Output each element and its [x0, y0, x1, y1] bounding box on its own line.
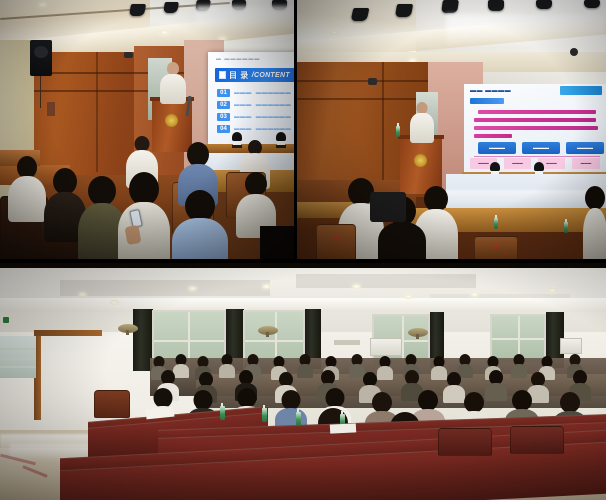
- photo-collage: ▬ ▬▬▬▬▬▬ 目 录 /CONTENT 01 ▬▬▬ ▬▬▬▬▬▬ 02 ▬…: [0, 0, 606, 500]
- panel-bottom: [0, 262, 606, 500]
- panel-top-right: ▬▬ ▬▬▬▬ ▬▬▬▬ ▬▬▬▬ ▬▬▬▬ ▬▬▬ ▬▬▬ ▬▬▬ ▬▬▬: [296, 0, 606, 262]
- panel-top-left: ▬ ▬▬▬▬▬▬ 目 录 /CONTENT 01 ▬▬▬ ▬▬▬▬▬▬ 02 ▬…: [0, 0, 296, 262]
- vignette: [0, 262, 606, 500]
- vignette: [296, 0, 606, 262]
- panel-divider-horizontal: [0, 259, 606, 263]
- panel-divider-vertical: [294, 0, 297, 262]
- vignette: [0, 0, 296, 262]
